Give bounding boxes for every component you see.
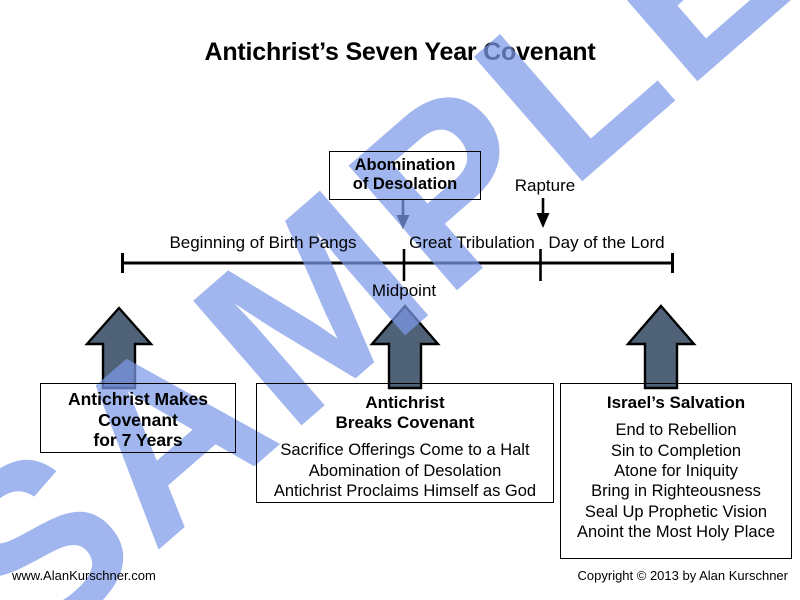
- rapture-down-arrow: [537, 198, 550, 228]
- abomination-line-2: of Desolation: [335, 175, 475, 194]
- info-box-body-line: Atone for Iniquity: [561, 461, 791, 481]
- info-box-body: End to Rebellion Sin to Completion Atone…: [561, 420, 791, 543]
- abomination-line-1: Abomination: [335, 156, 475, 175]
- timeline-segment-label-birth-pangs: Beginning of Birth Pangs: [122, 233, 404, 253]
- info-box-body-line: Sin to Completion: [561, 441, 791, 461]
- page-title: Antichrist’s Seven Year Covenant: [0, 38, 800, 67]
- timeline-axis: [122, 249, 673, 281]
- info-box-body-line: Seal Up Prophetic Vision: [561, 502, 791, 522]
- info-box-antichrist-breaks-covenant: Antichrist Breaks Covenant Sacrifice Off…: [256, 383, 554, 503]
- abomination-callout-box: Abomination of Desolation: [329, 151, 481, 200]
- up-arrow-middle: [372, 306, 438, 388]
- info-box-heading: Antichrist Makes Covenant for 7 Years: [41, 389, 235, 451]
- up-arrow-left: [87, 308, 151, 388]
- footer-copyright: Copyright © 2013 by Alan Kurschner: [578, 568, 788, 583]
- info-box-heading-line: Antichrist: [257, 393, 553, 413]
- info-box-heading-line: for 7 Years: [41, 430, 235, 451]
- info-box-heading-line: Antichrist Makes: [41, 389, 235, 410]
- info-box-body: Sacrifice Offerings Come to a Halt Abomi…: [257, 440, 553, 501]
- info-box-body-line: Abomination of Desolation: [257, 461, 553, 481]
- info-box-heading-line: Israel’s Salvation: [561, 393, 791, 413]
- abomination-down-arrow: [397, 200, 410, 229]
- info-box-body-line: Bring in Righteousness: [561, 481, 791, 501]
- timeline-segment-label-great-tribulation: Great Tribulation: [404, 233, 540, 253]
- info-box-heading: Israel’s Salvation: [561, 393, 791, 413]
- info-box-antichrist-makes-covenant: Antichrist Makes Covenant for 7 Years: [40, 383, 236, 453]
- info-box-heading: Antichrist Breaks Covenant: [257, 393, 553, 433]
- info-box-body-line: Anoint the Most Holy Place: [561, 522, 791, 542]
- footer-website[interactable]: www.AlanKurschner.com: [12, 568, 156, 583]
- up-arrow-right: [628, 306, 694, 388]
- info-box-heading-line: Covenant: [41, 410, 235, 431]
- info-box-body-line: End to Rebellion: [561, 420, 791, 440]
- rapture-label: Rapture: [500, 176, 590, 196]
- diagram-canvas: Antichrist’s Seven Year Covenant: [0, 0, 800, 600]
- info-box-israels-salvation: Israel’s Salvation End to Rebellion Sin …: [560, 383, 792, 559]
- midpoint-label: Midpoint: [344, 281, 464, 301]
- info-box-body-line: Antichrist Proclaims Himself as God: [257, 481, 553, 501]
- info-box-heading-line: Breaks Covenant: [257, 413, 553, 433]
- timeline-segment-label-day-of-the-lord: Day of the Lord: [540, 233, 673, 253]
- info-box-body-line: Sacrifice Offerings Come to a Halt: [257, 440, 553, 460]
